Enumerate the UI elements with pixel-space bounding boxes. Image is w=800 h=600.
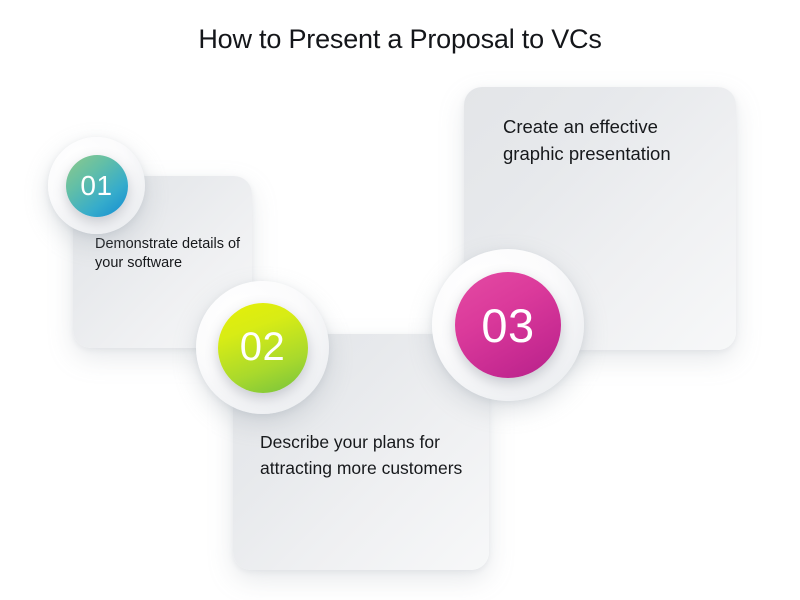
page-title: How to Present a Proposal to VCs: [0, 22, 800, 56]
step-badge-halo-1: 01: [48, 137, 145, 234]
step-card-3-text: Create an effective graphic presentation: [503, 113, 718, 167]
step-badge-halo-2: 02: [196, 281, 329, 414]
step-card-2-text: Describe your plans for attracting more …: [260, 430, 475, 481]
step-card-1-text: Demonstrate details of your software: [95, 235, 245, 273]
step-badge-2[interactable]: 02: [218, 303, 308, 393]
step-badge-3[interactable]: 03: [455, 272, 561, 378]
infographic-canvas: How to Present a Proposal to VCs Demonst…: [0, 0, 800, 600]
step-badge-1[interactable]: 01: [66, 155, 128, 217]
step-badge-halo-3: 03: [432, 249, 584, 401]
